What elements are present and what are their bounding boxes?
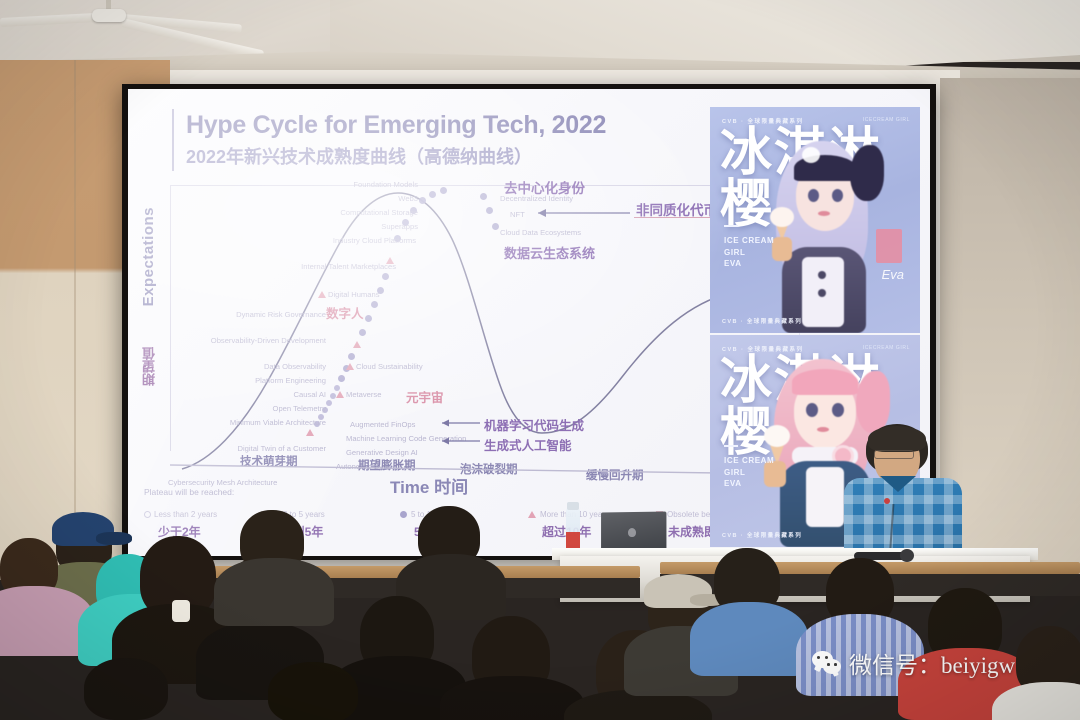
series-label: Metaverse (346, 391, 381, 400)
ceiling-fan-icon (92, 9, 126, 22)
data-point-marker (382, 273, 389, 280)
series-label: Internal Talent Marketplaces (186, 263, 396, 272)
poster-footer: CVB · 全球限量典藏系列 (722, 317, 802, 325)
annotation-digital-humans: 数字人 (326, 303, 364, 322)
series-label: Causal AI (226, 391, 326, 400)
annotation-arrow (428, 415, 488, 457)
data-point-marker (353, 341, 361, 348)
poster-divider (724, 445, 738, 447)
audience-shoulders (690, 602, 808, 676)
lecture-hall-photo: Hype Cycle for Emerging Tech, 2022 2022年… (0, 0, 1080, 720)
slide-subtitle: 2022年新兴技术成熟度曲线（高德纳曲线） (186, 143, 532, 169)
annotation-generative-ai: 生成式人工智能 (484, 435, 572, 454)
data-point-marker (440, 187, 447, 194)
annotation-metaverse: 元宇宙 (406, 387, 444, 406)
series-label: Web3 (278, 195, 418, 204)
series-label: Observability-Driven Development (198, 337, 326, 345)
annotation-ml-code-gen: 机器学习代码生成 (484, 415, 584, 434)
audience-head (84, 658, 168, 720)
poster-divider (724, 225, 738, 227)
series-label: Digital Humans (328, 291, 380, 300)
hair-clip-icon (172, 600, 190, 622)
data-point-marker (318, 291, 326, 298)
data-point-marker (359, 329, 366, 336)
data-point-marker (429, 191, 436, 198)
presenter-hair-top (868, 426, 926, 452)
watermark-text: 微信号：beiyigw (849, 646, 1015, 680)
data-point-marker (346, 363, 354, 370)
series-label: Open Telemetry (198, 405, 326, 414)
data-point-marker (348, 353, 355, 360)
series-label: Industry Cloud Platforms (216, 237, 416, 246)
series-label: Minimum Viable Architecture (186, 419, 326, 427)
watermark: 微信号：beiyigw (812, 646, 1015, 680)
poster-code: ICECREAM GIRL (863, 117, 910, 123)
series-label: Data Observability (206, 363, 326, 372)
series-label: Platform Engineering (186, 377, 326, 386)
data-point-marker (480, 193, 487, 200)
y-axis-label-cn: 期望值 (140, 347, 159, 386)
poster-ice-cream-girl-1: CVB · 全球限量典藏系列 ICECREAM GIRL 冰淇淋樱 (710, 107, 920, 333)
poster-code: ICECREAM GIRL (863, 345, 910, 351)
poster-subtitle-en: ICE CREAM GIRL EVA (724, 235, 774, 270)
audience-shoulders (440, 676, 584, 720)
data-point-marker (326, 400, 332, 406)
data-point-marker (306, 429, 314, 436)
data-point-marker (371, 301, 378, 308)
series-label: Superapps (238, 223, 418, 232)
y-axis-label: Expectations (140, 207, 157, 306)
poster-stamp (876, 229, 902, 263)
series-label: Decentralized Identity (500, 195, 573, 204)
title-accent-bar (172, 109, 174, 171)
annotation-arrow (526, 205, 636, 221)
series-label: Cloud Sustainability (356, 363, 423, 372)
series-label: NFT (510, 211, 525, 220)
data-point-marker (365, 315, 372, 322)
data-point-marker (492, 223, 499, 230)
series-label: Computational Storage (238, 209, 418, 218)
audience (0, 470, 1080, 720)
annotation-cloud-data-ecosystems: 数据云生态系统 (504, 243, 595, 262)
slide-title: Hype Cycle for Emerging Tech, 2022 (186, 111, 606, 140)
series-label: Cloud Data Ecosystems (500, 229, 581, 238)
annotation-nft: 非同质化代币 (636, 199, 717, 219)
poster-signature: Eva (882, 267, 904, 282)
data-point-marker (336, 391, 344, 398)
wechat-icon (812, 650, 842, 676)
cap-brim (96, 532, 132, 545)
series-label: Foundation Models (278, 181, 418, 190)
glasses-icon (874, 450, 914, 459)
series-label: Dynamic Risk Governance (216, 311, 326, 319)
series-label: Augmented FinOps (350, 421, 415, 430)
audience-shoulders (214, 558, 334, 626)
audience-head (268, 662, 358, 720)
data-point-marker (419, 197, 426, 204)
data-point-marker (338, 375, 345, 382)
data-point-marker (486, 207, 493, 214)
